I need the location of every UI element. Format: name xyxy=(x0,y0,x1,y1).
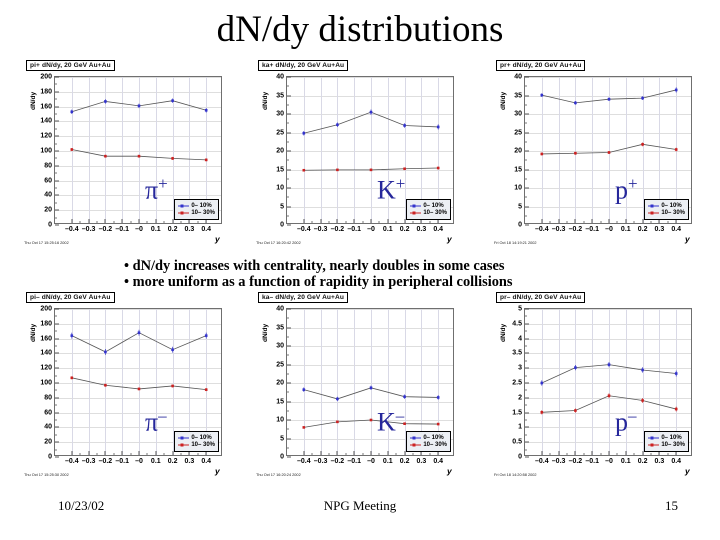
x-tick-label: 0.2 xyxy=(638,226,648,233)
x-tick-label: –0.3 xyxy=(82,458,96,465)
data-point xyxy=(138,388,141,391)
x-tick-label: 0.4 xyxy=(671,226,681,233)
y-tick-label: 180 xyxy=(40,320,52,327)
x-tick-label: –0 xyxy=(605,226,613,233)
y-axis-label-k-minus: dN/dy xyxy=(262,324,269,342)
x-tick-label: 0.1 xyxy=(151,226,161,233)
x-axis-label-k-plus: y xyxy=(447,234,452,244)
data-point xyxy=(71,334,74,337)
x-tick-label: –0.4 xyxy=(535,226,549,233)
legend-label-peripheral: 10– 30% xyxy=(661,442,685,448)
y-tick-label: 0 xyxy=(280,454,284,461)
chart-legend-pi-minus: 0– 10%10– 30% xyxy=(174,431,219,452)
data-point xyxy=(171,385,174,388)
x-tick-label: 0.3 xyxy=(655,458,665,465)
legend-label-central: 0– 10% xyxy=(191,203,211,209)
y-tick-label: 4.5 xyxy=(512,320,522,327)
legend-label-central: 0– 10% xyxy=(423,203,443,209)
particle-symbol-k-minus: K– xyxy=(377,407,404,436)
y-tick-label: 10 xyxy=(514,185,522,192)
data-point xyxy=(437,126,440,129)
chart-panel-k-plus: ka+ dN/dy, 20 GeV Au+AudN/dyy05101520253… xyxy=(240,60,472,250)
data-point xyxy=(205,159,208,162)
legend-entry-peripheral: 10– 30% xyxy=(178,210,215,216)
x-tick-label: 0.1 xyxy=(621,226,631,233)
y-axis-label-pi-minus: dN/dy xyxy=(30,324,37,342)
x-tick-label: 0.3 xyxy=(185,458,195,465)
plot-area-pi-plus: 020406080100120140160180200–0.4–0.3–0.2–… xyxy=(54,76,222,224)
x-tick-label: –0.1 xyxy=(115,226,129,233)
chart-legend-p-minus: 0– 10%10– 30% xyxy=(644,431,689,452)
data-point xyxy=(71,148,74,151)
data-point xyxy=(205,109,208,112)
x-tick-label: –0.3 xyxy=(314,458,328,465)
y-tick-label: 35 xyxy=(514,92,522,99)
particle-symbol-pi-minus: π– xyxy=(145,407,167,436)
x-tick-label: 0.2 xyxy=(168,226,178,233)
x-tick-label: –0.2 xyxy=(99,458,113,465)
y-axis-label-p-minus: dN/dy xyxy=(500,324,507,342)
x-tick-label: –0 xyxy=(135,226,143,233)
y-tick-label: 1.5 xyxy=(512,409,522,416)
data-point xyxy=(370,111,373,114)
x-tick-label: 0.1 xyxy=(383,226,393,233)
y-tick-label: 25 xyxy=(514,129,522,136)
data-point xyxy=(437,423,440,426)
data-point xyxy=(104,155,107,158)
chart-panel-p-minus: pr– dN/dy, 20 GeV Au+AudN/dyy00.511.522.… xyxy=(478,292,710,482)
data-point xyxy=(608,363,611,366)
x-tick-label: –0 xyxy=(367,226,375,233)
x-axis-label-k-minus: y xyxy=(447,466,452,476)
legend-entry-peripheral: 10– 30% xyxy=(648,442,685,448)
legend-label-peripheral: 10– 30% xyxy=(423,442,447,448)
y-tick-label: 2 xyxy=(518,394,522,401)
legend-marker-central-icon xyxy=(648,203,659,209)
legend-marker-peripheral-icon xyxy=(178,210,189,216)
y-tick-label: 60 xyxy=(44,409,52,416)
x-axis-label-p-plus: y xyxy=(685,234,690,244)
x-tick-label: 0.3 xyxy=(655,226,665,233)
chart-timestamp-k-plus: Thu Oct 17 16:20:42 2002 xyxy=(256,240,301,245)
legend-label-peripheral: 10– 30% xyxy=(191,442,215,448)
y-tick-label: 10 xyxy=(276,185,284,192)
y-tick-label: 35 xyxy=(276,324,284,331)
data-point xyxy=(138,105,141,108)
x-tick-label: –0 xyxy=(135,458,143,465)
x-tick-label: –0.2 xyxy=(569,226,583,233)
data-point xyxy=(370,387,373,390)
footer-meeting: NPG Meeting xyxy=(0,498,720,514)
x-tick-label: –0 xyxy=(605,458,613,465)
y-axis-label-k-plus: dN/dy xyxy=(262,92,269,110)
legend-entry-central: 0– 10% xyxy=(410,203,447,209)
legend-label-peripheral: 10– 30% xyxy=(423,210,447,216)
legend-label-peripheral: 10– 30% xyxy=(191,210,215,216)
data-point xyxy=(437,396,440,399)
y-tick-label: 200 xyxy=(40,74,52,81)
x-tick-label: 0.2 xyxy=(400,226,410,233)
data-point xyxy=(541,94,544,97)
y-tick-label: 5 xyxy=(518,306,522,313)
data-point xyxy=(370,169,373,172)
y-tick-label: 160 xyxy=(40,103,52,110)
x-tick-label: –0.1 xyxy=(115,458,129,465)
legend-marker-central-icon xyxy=(178,435,189,441)
y-tick-label: 80 xyxy=(44,162,52,169)
data-point xyxy=(336,123,339,126)
x-tick-label: 0.4 xyxy=(671,458,681,465)
data-point xyxy=(641,399,644,402)
x-tick-label: 0.3 xyxy=(185,226,195,233)
legend-entry-central: 0– 10% xyxy=(648,435,685,441)
data-point xyxy=(403,395,406,398)
particle-symbol-p-minus: p– xyxy=(615,407,637,436)
legend-entry-peripheral: 10– 30% xyxy=(410,210,447,216)
y-tick-label: 30 xyxy=(276,343,284,350)
y-tick-label: 5 xyxy=(518,203,522,210)
y-tick-label: 180 xyxy=(40,88,52,95)
data-point xyxy=(138,331,141,334)
footer-page-number: 15 xyxy=(665,498,678,514)
y-tick-label: 200 xyxy=(40,306,52,313)
chart-legend-k-plus: 0– 10%10– 30% xyxy=(406,199,451,220)
series-line-peripheral xyxy=(542,396,676,413)
x-tick-label: –0.1 xyxy=(347,226,361,233)
data-point xyxy=(403,167,406,170)
y-tick-label: 20 xyxy=(276,148,284,155)
y-tick-label: 40 xyxy=(514,74,522,81)
y-tick-label: 15 xyxy=(276,398,284,405)
plot-area-pi-minus: 020406080100120140160180200–0.4–0.3–0.2–… xyxy=(54,308,222,456)
chart-timestamp-p-plus: Fri Oct 18 14:19:21 2002 xyxy=(494,240,537,245)
y-tick-label: 120 xyxy=(40,133,52,140)
legend-label-central: 0– 10% xyxy=(423,435,443,441)
chart-title-k-plus: ka+ dN/dy, 20 GeV Au+Au xyxy=(258,60,348,71)
data-point xyxy=(675,89,678,92)
x-tick-label: 0.3 xyxy=(417,226,427,233)
data-point xyxy=(608,98,611,101)
x-tick-label: –0.2 xyxy=(99,226,113,233)
x-tick-label: 0.4 xyxy=(201,226,211,233)
y-tick-label: 40 xyxy=(44,424,52,431)
chart-legend-p-plus: 0– 10%10– 30% xyxy=(644,199,689,220)
legend-marker-peripheral-icon xyxy=(648,210,659,216)
x-tick-label: 0.1 xyxy=(621,458,631,465)
y-tick-label: 120 xyxy=(40,365,52,372)
series-line-central xyxy=(304,112,438,133)
chart-timestamp-p-minus: Fri Oct 18 14:20:58 2002 xyxy=(494,472,537,477)
legend-label-central: 0– 10% xyxy=(661,203,681,209)
y-axis-label-p-plus: dN/dy xyxy=(500,92,507,110)
chart-legend-pi-plus: 0– 10%10– 30% xyxy=(174,199,219,220)
chart-legend-k-minus: 0– 10%10– 30% xyxy=(406,431,451,452)
y-tick-label: 25 xyxy=(276,129,284,136)
x-tick-label: 0.1 xyxy=(151,458,161,465)
data-point xyxy=(104,351,107,354)
data-point xyxy=(675,372,678,375)
y-tick-label: 0 xyxy=(518,222,522,229)
data-point xyxy=(303,169,306,172)
data-point xyxy=(303,426,306,429)
y-tick-label: 20 xyxy=(44,207,52,214)
data-point xyxy=(574,152,577,155)
data-point xyxy=(336,421,339,424)
data-point xyxy=(138,155,141,158)
data-point xyxy=(171,99,174,102)
legend-marker-central-icon xyxy=(410,203,421,209)
data-point xyxy=(541,382,544,385)
particle-symbol-pi-plus: π+ xyxy=(145,175,168,204)
y-tick-label: 5 xyxy=(280,435,284,442)
chart-timestamp-pi-minus: Thu Oct 17 15:25:30 2002 xyxy=(24,472,69,477)
x-tick-label: –0.4 xyxy=(297,226,311,233)
data-point xyxy=(303,388,306,391)
particle-symbol-p-plus: p+ xyxy=(615,175,638,204)
legend-entry-central: 0– 10% xyxy=(178,203,215,209)
x-axis-label-p-minus: y xyxy=(685,466,690,476)
data-point xyxy=(437,167,440,170)
y-tick-label: 0 xyxy=(280,222,284,229)
legend-marker-central-icon xyxy=(648,435,659,441)
x-tick-label: –0.4 xyxy=(297,458,311,465)
data-point xyxy=(641,369,644,372)
legend-entry-central: 0– 10% xyxy=(648,203,685,209)
data-point xyxy=(205,388,208,391)
data-point xyxy=(171,348,174,351)
x-tick-label: 0.2 xyxy=(638,458,648,465)
y-tick-label: 100 xyxy=(40,148,52,155)
x-axis-label-pi-minus: y xyxy=(215,466,220,476)
y-tick-label: 0.5 xyxy=(512,439,522,446)
legend-label-central: 0– 10% xyxy=(191,435,211,441)
y-tick-label: 35 xyxy=(276,92,284,99)
legend-marker-central-icon xyxy=(178,203,189,209)
chart-timestamp-k-minus: Thu Oct 17 16:20:24 2002 xyxy=(256,472,301,477)
legend-marker-peripheral-icon xyxy=(178,442,189,448)
y-tick-label: 5 xyxy=(280,203,284,210)
x-tick-label: –0.1 xyxy=(585,458,599,465)
y-tick-label: 30 xyxy=(514,111,522,118)
y-tick-label: 20 xyxy=(44,439,52,446)
x-tick-label: –0.2 xyxy=(331,226,345,233)
data-point xyxy=(104,384,107,387)
data-point xyxy=(104,100,107,103)
x-tick-label: –0.3 xyxy=(314,226,328,233)
y-tick-label: 40 xyxy=(44,192,52,199)
bullet-item-1: • more uniform as a function of rapidity… xyxy=(124,274,624,290)
x-tick-label: 0.2 xyxy=(168,458,178,465)
slide: dN/dy distributions pi+ dN/dy, 20 GeV Au… xyxy=(0,0,720,540)
x-tick-label: –0.3 xyxy=(552,458,566,465)
y-tick-label: 0 xyxy=(518,454,522,461)
series-line-central xyxy=(542,365,676,383)
x-tick-label: –0.4 xyxy=(65,226,79,233)
y-tick-label: 20 xyxy=(276,380,284,387)
data-point xyxy=(675,408,678,411)
y-tick-label: 140 xyxy=(40,118,52,125)
chart-title-p-minus: pr– dN/dy, 20 GeV Au+Au xyxy=(496,292,585,303)
x-axis-label-pi-plus: y xyxy=(215,234,220,244)
y-tick-label: 160 xyxy=(40,335,52,342)
x-tick-label: –0.4 xyxy=(535,458,549,465)
chart-title-pi-plus: pi+ dN/dy, 20 GeV Au+Au xyxy=(26,60,115,71)
chart-panel-k-minus: ka– dN/dy, 20 GeV Au+AudN/dyy05101520253… xyxy=(240,292,472,482)
x-tick-label: –0.3 xyxy=(552,226,566,233)
data-point xyxy=(336,169,339,172)
y-tick-label: 3.5 xyxy=(512,350,522,357)
y-tick-label: 0 xyxy=(48,222,52,229)
chart-title-p-plus: pr+ dN/dy, 20 GeV Au+Au xyxy=(496,60,585,71)
data-point xyxy=(574,409,577,412)
y-tick-label: 10 xyxy=(276,417,284,424)
x-tick-label: 0.2 xyxy=(400,458,410,465)
x-tick-label: 0.4 xyxy=(433,458,443,465)
x-tick-label: 0.3 xyxy=(417,458,427,465)
x-tick-label: –0.3 xyxy=(82,226,96,233)
legend-entry-central: 0– 10% xyxy=(178,435,215,441)
legend-label-peripheral: 10– 30% xyxy=(661,210,685,216)
x-tick-label: –0.1 xyxy=(585,226,599,233)
bullet-item-0: • dN/dy increases with centrality, nearl… xyxy=(124,258,624,274)
legend-marker-peripheral-icon xyxy=(648,442,659,448)
y-axis-label-pi-plus: dN/dy xyxy=(30,92,37,110)
y-tick-label: 40 xyxy=(276,74,284,81)
y-tick-label: 1 xyxy=(518,424,522,431)
x-tick-label: 0.4 xyxy=(201,458,211,465)
plot-area-k-minus: 0510152025303540–0.4–0.3–0.2–0.1–00.10.2… xyxy=(286,308,454,456)
data-point xyxy=(71,377,74,380)
data-point xyxy=(641,97,644,100)
page-title: dN/dy distributions xyxy=(0,8,720,51)
y-tick-label: 20 xyxy=(514,148,522,155)
legend-entry-peripheral: 10– 30% xyxy=(410,442,447,448)
y-tick-label: 60 xyxy=(44,177,52,184)
legend-marker-central-icon xyxy=(410,435,421,441)
legend-label-central: 0– 10% xyxy=(661,435,681,441)
chart-panel-pi-plus: pi+ dN/dy, 20 GeV Au+AudN/dyy02040608010… xyxy=(8,60,240,250)
data-point xyxy=(574,366,577,369)
bullet-list: • dN/dy increases with centrality, nearl… xyxy=(124,258,624,290)
x-tick-label: –0.1 xyxy=(347,458,361,465)
data-point xyxy=(71,110,74,113)
x-tick-label: 0.4 xyxy=(433,226,443,233)
plot-area-p-minus: 00.511.522.533.544.55–0.4–0.3–0.2–0.1–00… xyxy=(524,308,692,456)
plot-area-k-plus: 0510152025303540–0.4–0.3–0.2–0.1–00.10.2… xyxy=(286,76,454,224)
data-point xyxy=(303,132,306,135)
legend-entry-peripheral: 10– 30% xyxy=(648,210,685,216)
y-tick-label: 2.5 xyxy=(512,380,522,387)
data-point xyxy=(171,157,174,160)
data-point xyxy=(541,411,544,414)
x-tick-label: –0.2 xyxy=(569,458,583,465)
x-tick-label: 0.1 xyxy=(383,458,393,465)
data-point xyxy=(370,419,373,422)
slide-footer: 10/23/02 NPG Meeting 15 xyxy=(0,498,720,520)
y-tick-label: 15 xyxy=(276,166,284,173)
data-point xyxy=(608,394,611,397)
y-tick-label: 15 xyxy=(514,166,522,173)
x-tick-label: –0 xyxy=(367,458,375,465)
y-tick-label: 100 xyxy=(40,380,52,387)
data-point xyxy=(205,334,208,337)
data-point xyxy=(541,153,544,156)
y-tick-label: 3 xyxy=(518,365,522,372)
data-point xyxy=(641,143,644,146)
chart-panel-p-plus: pr+ dN/dy, 20 GeV Au+AudN/dyy05101520253… xyxy=(478,60,710,250)
data-point xyxy=(608,151,611,154)
plot-area-p-plus: 0510152025303540–0.4–0.3–0.2–0.1–00.10.2… xyxy=(524,76,692,224)
y-tick-label: 80 xyxy=(44,394,52,401)
particle-symbol-k-plus: K+ xyxy=(377,175,405,204)
data-point xyxy=(336,398,339,401)
y-tick-label: 4 xyxy=(518,335,522,342)
legend-marker-peripheral-icon xyxy=(410,210,421,216)
x-tick-label: –0.2 xyxy=(331,458,345,465)
data-point xyxy=(675,148,678,151)
y-tick-label: 40 xyxy=(276,306,284,313)
legend-marker-peripheral-icon xyxy=(410,442,421,448)
y-tick-label: 140 xyxy=(40,350,52,357)
data-point xyxy=(403,124,406,127)
chart-panel-pi-minus: pi– dN/dy, 20 GeV Au+AudN/dyy02040608010… xyxy=(8,292,240,482)
data-point xyxy=(574,102,577,105)
chart-title-pi-minus: pi– dN/dy, 20 GeV Au+Au xyxy=(26,292,115,303)
chart-title-k-minus: ka– dN/dy, 20 GeV Au+Au xyxy=(258,292,348,303)
chart-timestamp-pi-plus: Thu Oct 17 15:25:16 2002 xyxy=(24,240,69,245)
legend-entry-peripheral: 10– 30% xyxy=(178,442,215,448)
legend-entry-central: 0– 10% xyxy=(410,435,447,441)
y-tick-label: 25 xyxy=(276,361,284,368)
x-tick-label: –0.4 xyxy=(65,458,79,465)
y-tick-label: 0 xyxy=(48,454,52,461)
y-tick-label: 30 xyxy=(276,111,284,118)
